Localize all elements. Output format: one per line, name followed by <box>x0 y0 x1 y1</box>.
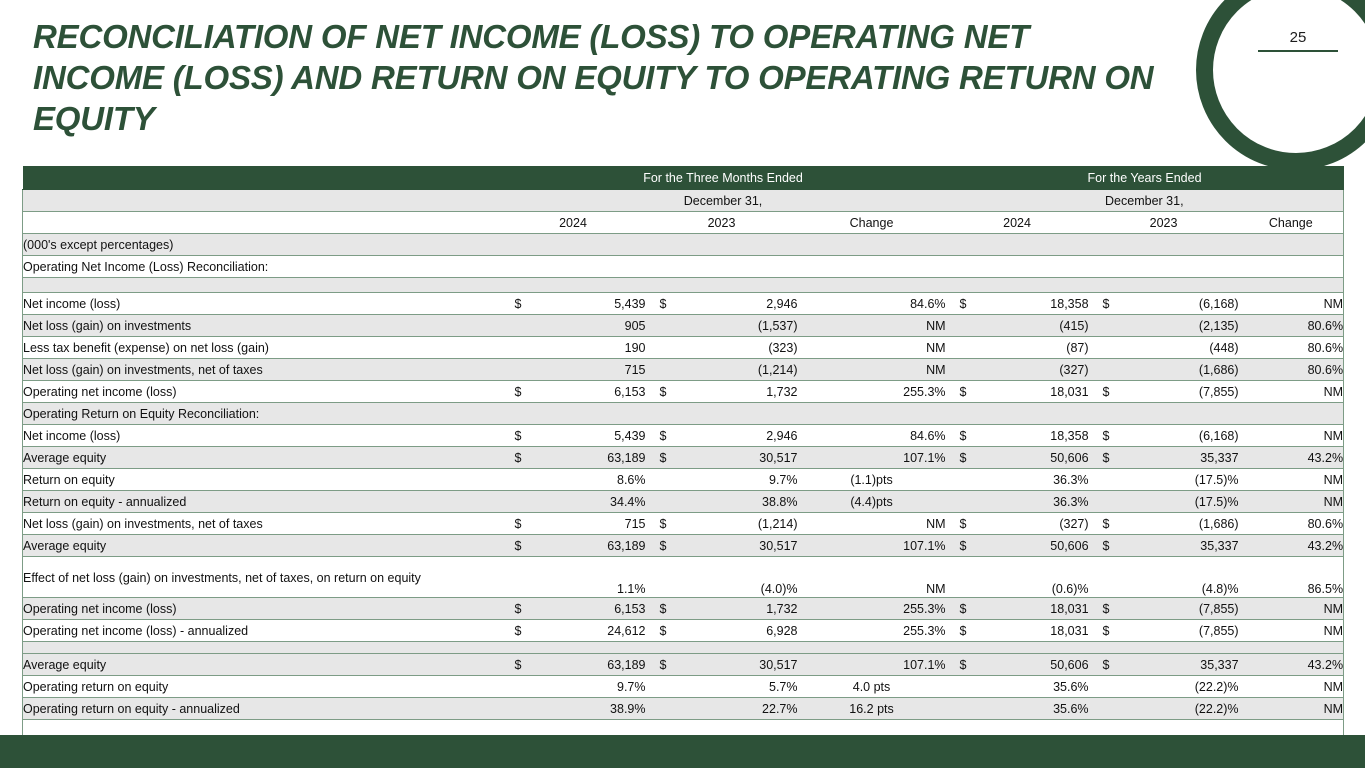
cell-value: (327) <box>1059 517 1088 531</box>
table-spacer-row <box>23 642 1344 654</box>
cell-ychange: NM <box>1239 620 1344 642</box>
cell-value: (2,135) <box>1199 319 1239 333</box>
currency-symbol: $ <box>960 602 967 616</box>
cell-value: 2,946 <box>766 429 797 443</box>
cell-y23: (22.2)% <box>1089 676 1239 698</box>
cell-y23: $35,337 <box>1089 535 1239 557</box>
cell-qchange: NM <box>798 513 946 535</box>
currency-symbol: $ <box>515 451 522 465</box>
cell-value: (323) <box>768 341 797 355</box>
cell-y23: $(7,855) <box>1089 381 1239 403</box>
cell-ychange: 43.2% <box>1239 535 1344 557</box>
table-row: Average equity $63,189 $30,517 107.1% $5… <box>23 654 1344 676</box>
column-header-y-2023: 2023 <box>1089 212 1239 234</box>
cell-value: 50,606 <box>1050 539 1088 553</box>
cell-value: 9.7% <box>769 473 798 487</box>
cell-ychange: NM <box>1239 491 1344 513</box>
cell-q24: 905 <box>501 315 646 337</box>
cell-value: (7,855) <box>1199 602 1239 616</box>
column-header-y-change: Change <box>1239 212 1344 234</box>
spacer-cell-7 <box>1239 278 1344 293</box>
table-row: Operating return on equity 9.7% 5.7% 4.0… <box>23 676 1344 698</box>
cell-q23: $1,732 <box>646 381 798 403</box>
cell-q23: $(1,214) <box>646 513 798 535</box>
spacer2-cell-6 <box>1089 642 1239 654</box>
currency-symbol: $ <box>960 429 967 443</box>
cell-q24: 34.4% <box>501 491 646 513</box>
cell-value: 30,517 <box>759 539 797 553</box>
cell-value: 30,517 <box>759 451 797 465</box>
row-label: Effect of net loss (gain) on investments… <box>23 557 501 598</box>
cell-value: 50,606 <box>1050 451 1088 465</box>
cell-q24: $6,153 <box>501 598 646 620</box>
cell-value: 63,189 <box>607 539 645 553</box>
cell-value: 1,732 <box>766 602 797 616</box>
row-label: Operating net income (loss) <box>23 598 501 620</box>
cell-qchange: 107.1% <box>798 447 946 469</box>
row-label: Net loss (gain) on investments, net of t… <box>23 359 501 381</box>
row-label: Average equity <box>23 654 501 676</box>
cell-q24: $5,439 <box>501 425 646 447</box>
cell-q24: $5,439 <box>501 293 646 315</box>
cell-ychange: NM <box>1239 676 1344 698</box>
table-row: Return on equity 8.6% 9.7% (1.1)pts 36.3… <box>23 469 1344 491</box>
table-row: Return on equity - annualized 34.4% 38.8… <box>23 491 1344 513</box>
cell-q23: $2,946 <box>646 425 798 447</box>
cell-y23: (17.5)% <box>1089 469 1239 491</box>
cell-value: 2,946 <box>766 297 797 311</box>
currency-symbol: $ <box>960 297 967 311</box>
cell-value: 36.3% <box>1053 495 1088 509</box>
cell-ychange: NM <box>1239 598 1344 620</box>
cell-qchange: 4.0 pts <box>798 676 946 698</box>
cell-y23: (448) <box>1089 337 1239 359</box>
cell-value: 38.9% <box>610 702 645 716</box>
cell-q23: $30,517 <box>646 535 798 557</box>
page-number: 25 <box>1258 30 1338 45</box>
cell-ychange: NM <box>1239 293 1344 315</box>
page-number-block: 25 <box>1258 30 1338 52</box>
cell-value: 63,189 <box>607 451 645 465</box>
currency-symbol: $ <box>515 624 522 638</box>
cell-y23: (17.5)% <box>1089 491 1239 513</box>
cell-y24: $50,606 <box>946 447 1089 469</box>
currency-symbol: $ <box>960 385 967 399</box>
cell-qchange: 255.3% <box>798 381 946 403</box>
cell-value: 18,358 <box>1050 297 1088 311</box>
spacer2-cell-2 <box>501 642 646 654</box>
cell-qchange: 255.3% <box>798 620 946 642</box>
section2-blank-6 <box>1239 403 1344 425</box>
cell-value: 715 <box>625 517 646 531</box>
cell-ychange: 80.6% <box>1239 337 1344 359</box>
cell-value: 34.4% <box>610 495 645 509</box>
cell-value: 50,606 <box>1050 658 1088 672</box>
spacer-cell-2 <box>501 278 646 293</box>
cell-value: (327) <box>1059 363 1088 377</box>
currency-symbol: $ <box>1103 517 1110 531</box>
cell-qchange: 84.6% <box>798 425 946 447</box>
row-label: Net loss (gain) on investments, net of t… <box>23 513 501 535</box>
spacer-cell-1 <box>23 278 501 293</box>
cell-y24: $18,031 <box>946 598 1089 620</box>
table-row: Net loss (gain) on investments, net of t… <box>23 513 1344 535</box>
cell-q24: 38.9% <box>501 698 646 720</box>
section1-blank-3 <box>798 256 946 278</box>
reconciliation-table: For the Three Months Ended For the Years… <box>22 166 1344 768</box>
currency-symbol: $ <box>1103 624 1110 638</box>
cell-value: 35.6% <box>1053 702 1088 716</box>
currency-symbol: $ <box>515 385 522 399</box>
cell-value: (6,168) <box>1199 297 1239 311</box>
cell-value: (17.5)% <box>1195 473 1239 487</box>
cell-value: 38.8% <box>762 495 797 509</box>
cell-value: (415) <box>1059 319 1088 333</box>
cell-y23: (2,135) <box>1089 315 1239 337</box>
table-column-header-row: 2024 2023 Change 2024 2023 Change <box>23 212 1344 234</box>
cell-value: 18,358 <box>1050 429 1088 443</box>
cell-qchange: NM <box>798 359 946 381</box>
cell-value: (0.6)% <box>1052 582 1089 596</box>
cell-y23: $35,337 <box>1089 447 1239 469</box>
table-section-title-row: Operating Net Income (Loss) Reconciliati… <box>23 256 1344 278</box>
cell-qchange: (4.4)pts <box>798 491 946 513</box>
cell-value: 18,031 <box>1050 624 1088 638</box>
cell-y24: (327) <box>946 359 1089 381</box>
cell-value: 35,337 <box>1200 451 1238 465</box>
units-blank-1 <box>501 234 646 256</box>
group-header-years: For the Years Ended <box>946 167 1344 190</box>
cell-qchange: (1.1)pts <box>798 469 946 491</box>
cell-value: (1,537) <box>758 319 798 333</box>
currency-symbol: $ <box>515 429 522 443</box>
cell-y24: $18,031 <box>946 381 1089 403</box>
section1-blank-1 <box>501 256 646 278</box>
section1-blank-2 <box>646 256 798 278</box>
cell-value: 30,517 <box>759 658 797 672</box>
section2-blank-2 <box>646 403 798 425</box>
cell-y24: $(327) <box>946 513 1089 535</box>
section-title-2: Operating Return on Equity Reconciliatio… <box>23 403 501 425</box>
cell-y24: (87) <box>946 337 1089 359</box>
cell-value: 22.7% <box>762 702 797 716</box>
row-label: Operating return on equity <box>23 676 501 698</box>
cell-value: 715 <box>625 363 646 377</box>
currency-symbol: $ <box>515 658 522 672</box>
section1-blank-6 <box>1239 256 1344 278</box>
cell-y23: $(6,168) <box>1089 293 1239 315</box>
section2-blank-5 <box>1089 403 1239 425</box>
cell-q24: $63,189 <box>501 535 646 557</box>
spacer-cell-6 <box>1089 278 1239 293</box>
spacer2-cell-1 <box>23 642 501 654</box>
currency-symbol: $ <box>660 385 667 399</box>
table-row: Operating net income (loss) $6,153 $1,73… <box>23 381 1344 403</box>
section1-blank-4 <box>946 256 1089 278</box>
row-label: Net income (loss) <box>23 293 501 315</box>
table-section-title-row: Operating Return on Equity Reconciliatio… <box>23 403 1344 425</box>
cell-value: 905 <box>625 319 646 333</box>
spacer2-cell-5 <box>946 642 1089 654</box>
cell-value: 35,337 <box>1200 539 1238 553</box>
cell-value: 18,031 <box>1050 385 1088 399</box>
currency-symbol: $ <box>1103 297 1110 311</box>
cell-value: 63,189 <box>607 658 645 672</box>
cell-value: 190 <box>625 341 646 355</box>
table-group-header-row: For the Three Months Ended For the Years… <box>23 167 1344 190</box>
cell-value: (87) <box>1066 341 1088 355</box>
cell-value: 18,031 <box>1050 602 1088 616</box>
currency-symbol: $ <box>660 602 667 616</box>
currency-symbol: $ <box>660 451 667 465</box>
currency-symbol: $ <box>960 517 967 531</box>
cell-value: 1,732 <box>766 385 797 399</box>
cell-y24: $18,358 <box>946 293 1089 315</box>
cell-value: 35,337 <box>1200 658 1238 672</box>
cell-q23: 38.8% <box>646 491 798 513</box>
cell-y24: $50,606 <box>946 535 1089 557</box>
cell-q23: $6,928 <box>646 620 798 642</box>
cell-y24: $50,606 <box>946 654 1089 676</box>
spacer2-cell-7 <box>1239 642 1344 654</box>
cell-ychange: NM <box>1239 469 1344 491</box>
units-blank-6 <box>1239 234 1344 256</box>
units-blank-4 <box>946 234 1089 256</box>
cell-value: (22.2)% <box>1195 680 1239 694</box>
row-label: Average equity <box>23 447 501 469</box>
cell-value: 8.6% <box>617 473 646 487</box>
currency-symbol: $ <box>515 297 522 311</box>
currency-symbol: $ <box>960 658 967 672</box>
spacer2-cell-3 <box>646 642 798 654</box>
cell-q23: $2,946 <box>646 293 798 315</box>
cell-y23: $(6,168) <box>1089 425 1239 447</box>
table-row: Net loss (gain) on investments, net of t… <box>23 359 1344 381</box>
table-date-header-row: December 31, December 31, <box>23 190 1344 212</box>
currency-symbol: $ <box>660 658 667 672</box>
column-header-q-2024: 2024 <box>501 212 646 234</box>
column-header-q-2023: 2023 <box>646 212 798 234</box>
spacer-cell-5 <box>946 278 1089 293</box>
column-header-y-2024: 2024 <box>946 212 1089 234</box>
currency-symbol: $ <box>660 429 667 443</box>
date-header-years: December 31, <box>946 190 1344 212</box>
cell-value: 5,439 <box>614 429 645 443</box>
cell-value: (6,168) <box>1199 429 1239 443</box>
cell-value: 36.3% <box>1053 473 1088 487</box>
units-blank-5 <box>1089 234 1239 256</box>
cell-value: 6,153 <box>614 385 645 399</box>
group-header-three-months: For the Three Months Ended <box>501 167 946 190</box>
cell-value: 5.7% <box>769 680 798 694</box>
spacer-cell-3 <box>646 278 798 293</box>
table-spacer-row <box>23 278 1344 293</box>
cell-y24: 36.3% <box>946 491 1089 513</box>
cell-qchange: 16.2 pts <box>798 698 946 720</box>
cell-q24: $6,153 <box>501 381 646 403</box>
row-label: Net income (loss) <box>23 425 501 447</box>
currency-symbol: $ <box>1103 658 1110 672</box>
cell-qchange: NM <box>798 337 946 359</box>
cell-q24: 190 <box>501 337 646 359</box>
cell-y24: 36.3% <box>946 469 1089 491</box>
row-label: Return on equity <box>23 469 501 491</box>
date-header-blank <box>23 190 501 212</box>
units-blank-3 <box>798 234 946 256</box>
cell-q23: 9.7% <box>646 469 798 491</box>
cell-q24: $715 <box>501 513 646 535</box>
row-label: Return on equity - annualized <box>23 491 501 513</box>
row-label: Operating net income (loss) - annualized <box>23 620 501 642</box>
currency-symbol: $ <box>1103 429 1110 443</box>
bottom-accent-band <box>0 735 1365 768</box>
cell-value: (448) <box>1209 341 1238 355</box>
cell-y24: 35.6% <box>946 698 1089 720</box>
cell-y23: (4.8)% <box>1089 557 1239 598</box>
cell-y23: $(1,686) <box>1089 513 1239 535</box>
cell-qchange: NM <box>798 315 946 337</box>
cell-value: 9.7% <box>617 680 646 694</box>
cell-y23: $(7,855) <box>1089 620 1239 642</box>
cell-value: (4.8)% <box>1202 582 1239 596</box>
currency-symbol: $ <box>960 624 967 638</box>
cell-ychange: 43.2% <box>1239 447 1344 469</box>
cell-q24: $24,612 <box>501 620 646 642</box>
cell-value: 24,612 <box>607 624 645 638</box>
cell-value: 1.1% <box>617 582 646 596</box>
cell-y23: $(7,855) <box>1089 598 1239 620</box>
cell-q23: $30,517 <box>646 654 798 676</box>
cell-q23: (323) <box>646 337 798 359</box>
currency-symbol: $ <box>515 539 522 553</box>
currency-symbol: $ <box>1103 539 1110 553</box>
cell-value: 5,439 <box>614 297 645 311</box>
cell-qchange: NM <box>798 557 946 598</box>
cell-q23: $30,517 <box>646 447 798 469</box>
cell-ychange: 43.2% <box>1239 654 1344 676</box>
cell-value: (22.2)% <box>1195 702 1239 716</box>
cell-value: (4.0)% <box>761 582 798 596</box>
cell-ychange: NM <box>1239 698 1344 720</box>
currency-symbol: $ <box>960 539 967 553</box>
section2-blank-1 <box>501 403 646 425</box>
cell-y23: (1,686) <box>1089 359 1239 381</box>
currency-symbol: $ <box>960 451 967 465</box>
cell-y24: (415) <box>946 315 1089 337</box>
cell-ychange: 80.6% <box>1239 359 1344 381</box>
cell-q24: 1.1% <box>501 557 646 598</box>
cell-q24: 715 <box>501 359 646 381</box>
cell-q24: 9.7% <box>501 676 646 698</box>
table-row: Net income (loss) $5,439 $2,946 84.6% $1… <box>23 425 1344 447</box>
units-blank-2 <box>646 234 798 256</box>
section2-blank-4 <box>946 403 1089 425</box>
row-label: Net loss (gain) on investments <box>23 315 501 337</box>
decorative-ring <box>1196 0 1365 170</box>
table-row: Average equity $63,189 $30,517 107.1% $5… <box>23 447 1344 469</box>
section2-blank-3 <box>798 403 946 425</box>
units-note: (000's except percentages) <box>23 234 501 256</box>
row-label: Less tax benefit (expense) on net loss (… <box>23 337 501 359</box>
cell-value: (17.5)% <box>1195 495 1239 509</box>
cell-value: (7,855) <box>1199 624 1239 638</box>
row-label: Operating return on equity - annualized <box>23 698 501 720</box>
cell-q24: $63,189 <box>501 654 646 676</box>
cell-ychange: 86.5% <box>1239 557 1344 598</box>
table-row: Operating net income (loss) - annualized… <box>23 620 1344 642</box>
page-number-rule <box>1258 50 1338 52</box>
cell-value: 35.6% <box>1053 680 1088 694</box>
currency-symbol: $ <box>1103 602 1110 616</box>
cell-value: (1,214) <box>758 363 798 377</box>
cell-value: (1,686) <box>1199 363 1239 377</box>
cell-q23: (1,537) <box>646 315 798 337</box>
cell-q23: 22.7% <box>646 698 798 720</box>
currency-symbol: $ <box>660 539 667 553</box>
column-header-q-change: Change <box>798 212 946 234</box>
table-row: Less tax benefit (expense) on net loss (… <box>23 337 1344 359</box>
table-row: Net loss (gain) on investments 905 (1,53… <box>23 315 1344 337</box>
cell-qchange: 107.1% <box>798 535 946 557</box>
currency-symbol: $ <box>1103 385 1110 399</box>
cell-q24: 8.6% <box>501 469 646 491</box>
cell-value: (1,686) <box>1199 517 1239 531</box>
cell-ychange: NM <box>1239 381 1344 403</box>
cell-y24: $18,358 <box>946 425 1089 447</box>
cell-value: (7,855) <box>1199 385 1239 399</box>
table-row: Net income (loss) $5,439 $2,946 84.6% $1… <box>23 293 1344 315</box>
financial-table-container: For the Three Months Ended For the Years… <box>22 166 1343 768</box>
cell-y23: (22.2)% <box>1089 698 1239 720</box>
cell-value: 6,928 <box>766 624 797 638</box>
section1-blank-5 <box>1089 256 1239 278</box>
date-header-three-months: December 31, <box>501 190 946 212</box>
currency-symbol: $ <box>515 517 522 531</box>
spacer2-cell-4 <box>798 642 946 654</box>
currency-symbol: $ <box>1103 451 1110 465</box>
cell-ychange: 80.6% <box>1239 513 1344 535</box>
table-row: Operating net income (loss) $6,153 $1,73… <box>23 598 1344 620</box>
cell-qchange: 107.1% <box>798 654 946 676</box>
cell-q23: $1,732 <box>646 598 798 620</box>
cell-y24: 35.6% <box>946 676 1089 698</box>
cell-q23: (4.0)% <box>646 557 798 598</box>
cell-qchange: 255.3% <box>798 598 946 620</box>
currency-symbol: $ <box>515 602 522 616</box>
cell-q24: $63,189 <box>501 447 646 469</box>
cell-ychange: 80.6% <box>1239 315 1344 337</box>
cell-qchange: 84.6% <box>798 293 946 315</box>
cell-y24: $18,031 <box>946 620 1089 642</box>
row-label: Operating net income (loss) <box>23 381 501 403</box>
cell-q23: (1,214) <box>646 359 798 381</box>
cell-value: (1,214) <box>758 517 798 531</box>
table-row: Operating return on equity - annualized … <box>23 698 1344 720</box>
cell-value: 6,153 <box>614 602 645 616</box>
table-row: Average equity $63,189 $30,517 107.1% $5… <box>23 535 1344 557</box>
row-label: Average equity <box>23 535 501 557</box>
currency-symbol: $ <box>660 517 667 531</box>
cell-y24: (0.6)% <box>946 557 1089 598</box>
section-title-1: Operating Net Income (Loss) Reconciliati… <box>23 256 501 278</box>
group-header-blank <box>23 167 501 190</box>
cell-q23: 5.7% <box>646 676 798 698</box>
currency-symbol: $ <box>660 297 667 311</box>
column-header-label <box>23 212 501 234</box>
page-title: RECONCILIATION OF NET INCOME (LOSS) TO O… <box>33 16 1163 139</box>
cell-ychange: NM <box>1239 425 1344 447</box>
table-units-note-row: (000's except percentages) <box>23 234 1344 256</box>
